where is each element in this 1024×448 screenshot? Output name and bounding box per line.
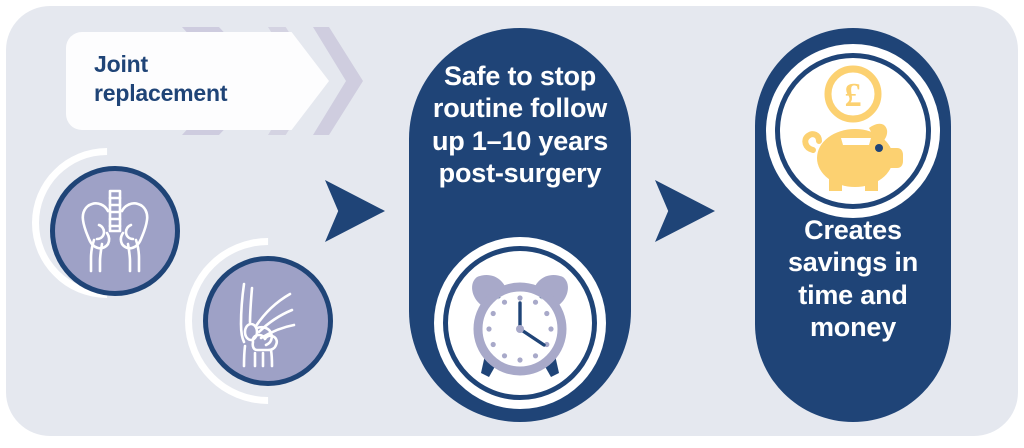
hip-joint-icon	[50, 166, 180, 296]
stage3-heading-line-3: time and	[762, 279, 944, 311]
stage2-heading-line-4: post-surgery	[418, 157, 622, 189]
stage2-heading-line-3: up 1–10 years	[418, 125, 622, 157]
alarm-clock-icon	[456, 259, 584, 387]
stage3-heading-line-4: money	[762, 311, 944, 343]
knee-bone-glyph	[226, 274, 310, 368]
infographic-canvas: Joint replacement	[0, 0, 1024, 448]
stage1-banner: Joint replacement	[66, 32, 396, 130]
banner-title: Joint replacement	[94, 50, 264, 109]
stage3-heading-line-1: Creates	[762, 214, 944, 246]
stage3-heading-line-2: savings in	[762, 246, 944, 278]
banner-title-line-2: replacement	[94, 79, 264, 108]
flow-arrow-2	[655, 180, 715, 242]
flow-arrow-1	[325, 180, 385, 242]
hip-bone-glyph	[75, 185, 155, 277]
banner-title-line-1: Joint	[94, 50, 264, 79]
knee-joint-icon	[203, 256, 333, 386]
stage2-heading-line-2: routine follow	[418, 92, 622, 124]
piggy-bank-icon: £	[789, 64, 917, 198]
alarm-clock-glyph	[459, 263, 581, 383]
stage2-heading-line-1: Safe to stop	[418, 60, 622, 92]
stage3-heading: Creates savings in time and money	[762, 214, 944, 344]
stage2-heading: Safe to stop routine follow up 1–10 year…	[418, 60, 622, 190]
pound-symbol: £	[845, 77, 862, 114]
piggy-bank-glyph: £	[791, 66, 915, 196]
